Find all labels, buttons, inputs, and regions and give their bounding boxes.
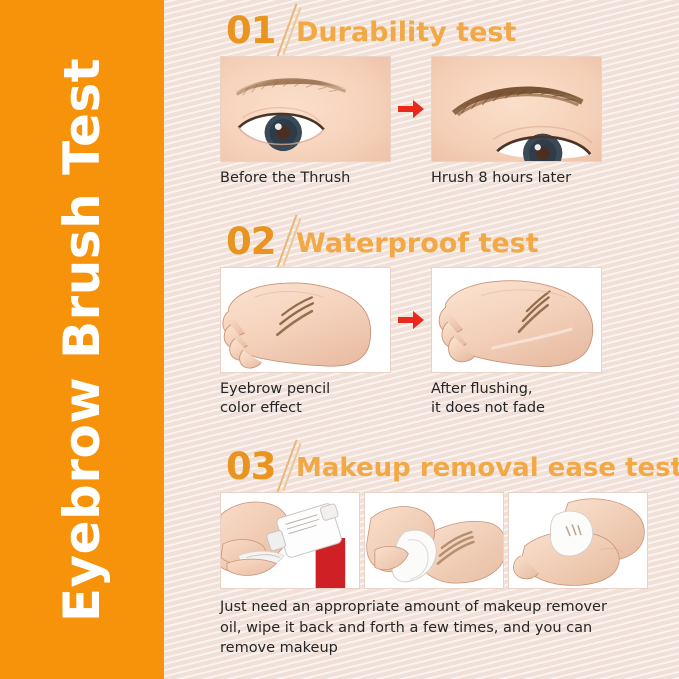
caption-after-line1: After flushing, [431, 380, 602, 399]
caption-after-block: After flushing, it does not fade [431, 380, 602, 417]
photo-row [164, 492, 679, 589]
section-makeup-removal-test: 03 Makeup removal ease test [164, 440, 679, 659]
caption-row: Before the Thrush Hrush 8 hours later [164, 169, 679, 188]
section-number: 03 [226, 445, 276, 488]
clean-hand-illustration [509, 493, 647, 588]
section-title: Waterproof test [296, 228, 539, 259]
right-arrow-icon [391, 311, 431, 329]
pour-remover-photo [220, 492, 360, 589]
title-banner: Eyebrow Brush Test [0, 0, 164, 679]
hand-before-illustration [221, 268, 390, 372]
section-durability-test: 01 Durability test [164, 4, 679, 188]
wipe-swatch-illustration [365, 493, 503, 588]
section-number: 01 [226, 9, 276, 52]
hand-after-illustration [432, 268, 601, 372]
section-waterproof-test: 02 Waterproof test [164, 215, 679, 417]
wipe-swatch-photo [364, 492, 504, 589]
section-heading: 03 Makeup removal ease test [164, 440, 679, 492]
eye-after-illustration [432, 57, 601, 161]
clean-hand-photo [508, 492, 648, 589]
eye-after-photo [431, 56, 602, 162]
slash-divider-icon [276, 3, 297, 56]
caption-before-line1: Eyebrow pencil [220, 380, 391, 399]
section-title: Makeup removal ease test [296, 453, 679, 483]
description-line1: Just need an appropriate amount of makeu… [220, 597, 650, 618]
caption-before-line2: color effect [220, 399, 391, 418]
hand-swatch-photo [220, 267, 391, 373]
caption-before: Before the Thrush [220, 169, 391, 188]
slash-divider-icon [276, 214, 297, 267]
slash-divider-icon [276, 439, 297, 492]
right-arrow-icon [391, 100, 431, 118]
description-line2: oil, wipe it back and forth a few times,… [220, 618, 650, 639]
section-title: Durability test [296, 17, 516, 48]
hand-swatch-after-photo [431, 267, 602, 373]
section-heading: 01 Durability test [164, 4, 679, 56]
pour-remover-illustration [221, 493, 359, 588]
photo-row [164, 267, 679, 373]
caption-after: Hrush 8 hours later [431, 169, 602, 188]
content-column: 01 Durability test [164, 0, 679, 679]
section-number: 02 [226, 220, 276, 263]
section-description: Just need an appropriate amount of makeu… [164, 597, 650, 659]
eye-before-illustration [221, 57, 390, 161]
infographic-page: Eyebrow Brush Test 01 Durability test [0, 0, 679, 679]
eye-before-photo [220, 56, 391, 162]
caption-spacer [391, 169, 431, 188]
photo-row [164, 56, 679, 162]
caption-before-block: Eyebrow pencil color effect [220, 380, 391, 417]
section-heading: 02 Waterproof test [164, 215, 679, 267]
caption-after-line2: it does not fade [431, 399, 602, 418]
description-line3: remove makeup [220, 638, 650, 659]
caption-row: Eyebrow pencil color effect After flushi… [164, 380, 679, 417]
page-title: Eyebrow Brush Test [53, 57, 111, 621]
caption-spacer [391, 380, 431, 417]
